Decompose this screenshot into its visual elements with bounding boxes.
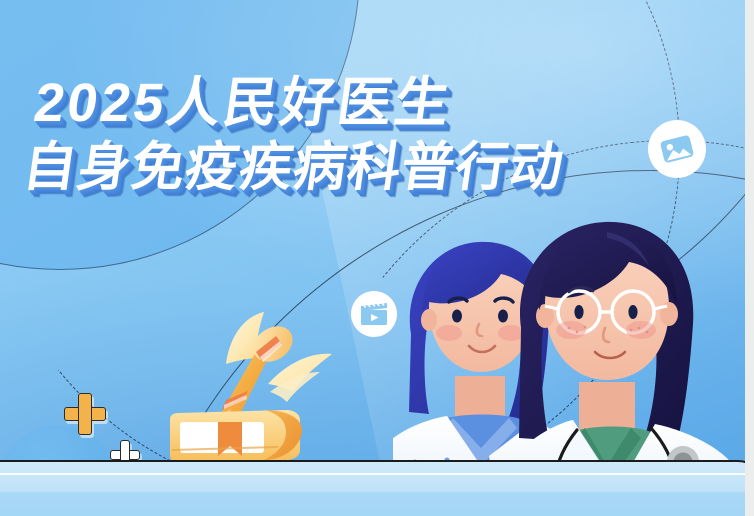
right-edge-strip xyxy=(745,0,754,516)
poster-banner: 2025人民好医生 自身免疫疾病科普行动 xyxy=(0,0,754,516)
headline-line-2: 自身免疫疾病科普行动 xyxy=(20,143,567,193)
plus-mark-orange xyxy=(64,393,106,435)
bottom-panel xyxy=(0,460,754,516)
headline-line-1: 2025人民好医生 xyxy=(31,78,576,129)
poster-headline: 2025人民好医生 自身免疫疾病科普行动 xyxy=(22,78,576,194)
video-clapperboard-play-icon xyxy=(351,291,397,337)
